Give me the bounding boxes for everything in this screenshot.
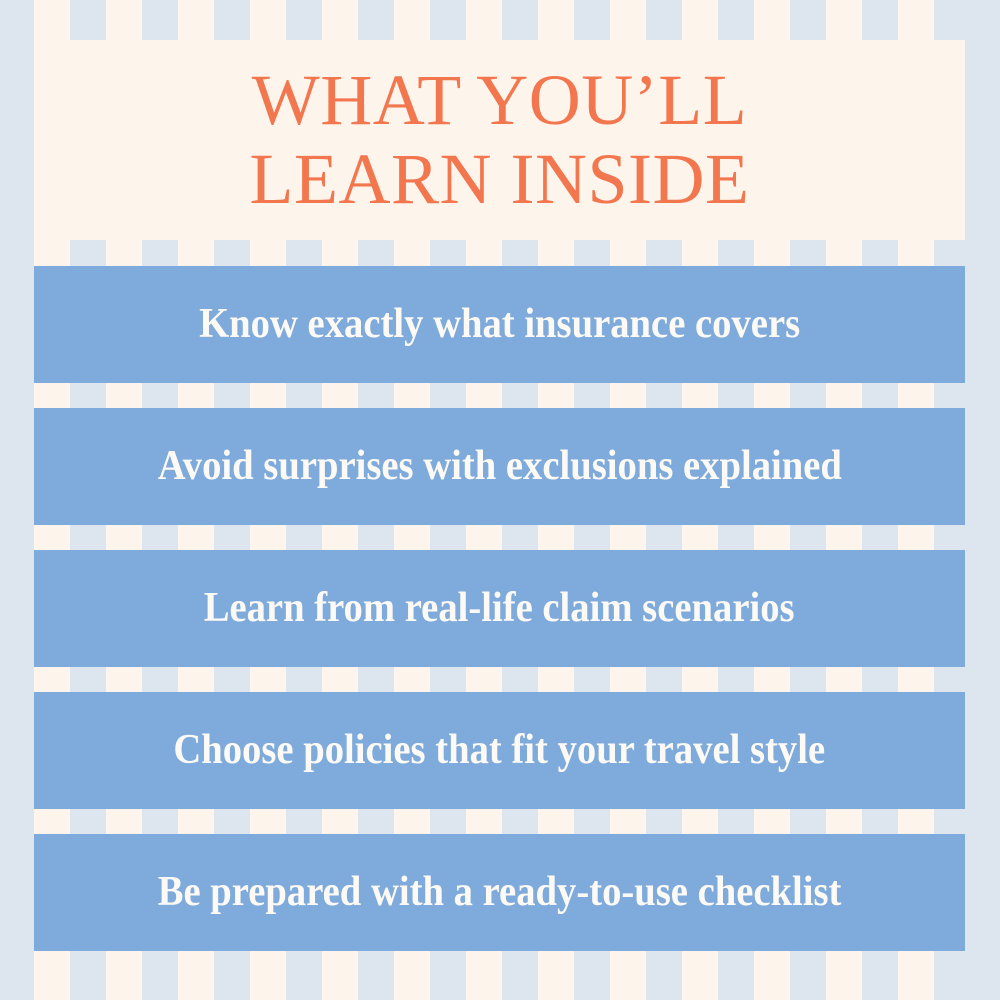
benefit-list: Know exactly what insurance covers Avoid… <box>0 266 1000 951</box>
benefit-bar-1[interactable]: Know exactly what insurance covers <box>34 266 965 383</box>
page-title: WHAT YOU’LL LEARN INSIDE <box>34 48 965 232</box>
benefit-label-1: Know exactly what insurance covers <box>199 301 800 347</box>
benefit-label-3: Learn from real-life claim scenarios <box>204 585 795 631</box>
benefit-bar-3[interactable]: Learn from real-life claim scenarios <box>34 550 965 667</box>
benefit-label-4: Choose policies that fit your travel sty… <box>174 727 826 773</box>
title-line-2: LEARN INSIDE <box>250 144 750 215</box>
benefit-bar-5[interactable]: Be prepared with a ready-to-use checklis… <box>34 834 965 951</box>
benefit-label-5: Be prepared with a ready-to-use checklis… <box>158 869 842 915</box>
benefit-label-2: Avoid surprises with exclusions explaine… <box>157 443 841 489</box>
benefit-bar-2[interactable]: Avoid surprises with exclusions explaine… <box>34 408 965 525</box>
title-line-1: WHAT YOU’LL <box>252 65 747 136</box>
poster-canvas: WHAT YOU’LL LEARN INSIDE Know exactly wh… <box>0 0 1000 1000</box>
benefit-bar-4[interactable]: Choose policies that fit your travel sty… <box>34 692 965 809</box>
